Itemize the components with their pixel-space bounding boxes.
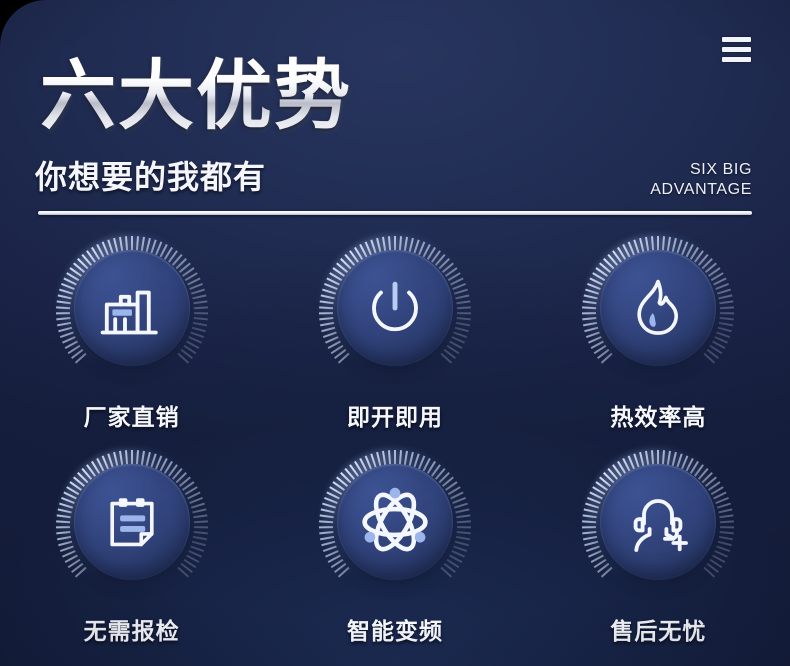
- feature-item-atom[interactable]: 智能变频: [263, 446, 526, 646]
- english-caption: SIX BIG ADVANTAGE: [650, 160, 752, 200]
- feature-label: 厂家直销: [84, 398, 180, 432]
- hamburger-bar-1: [722, 37, 751, 42]
- dial-clipboard: [52, 446, 212, 598]
- factory-icon: [97, 273, 167, 343]
- disc-factory: [74, 250, 190, 366]
- dial-atom: [315, 446, 475, 598]
- feature-item-power[interactable]: 即开即用: [263, 232, 526, 432]
- disc-power: [337, 250, 453, 366]
- disc-flame: [600, 250, 716, 366]
- dial-support: [578, 446, 738, 598]
- dial-flame: [578, 232, 738, 384]
- dial-power: [315, 232, 475, 384]
- feature-item-flame[interactable]: 热效率高: [527, 232, 790, 432]
- feature-item-support[interactable]: 售后无忧: [527, 446, 790, 646]
- page-subtitle: 你想要的我都有: [35, 152, 266, 198]
- hamburger-bar-3: [722, 57, 751, 62]
- feature-grid: 厂家直销 即开即用: [0, 232, 790, 646]
- headset-support-icon: [623, 487, 693, 557]
- hamburger-bar-2: [722, 47, 751, 52]
- feature-item-clipboard[interactable]: 无需报检: [0, 446, 263, 646]
- power-icon: [360, 273, 430, 343]
- page-title: 六大优势: [40, 54, 352, 139]
- atom-icon: [357, 484, 433, 560]
- feature-label: 无需报检: [84, 612, 180, 646]
- feature-label: 热效率高: [610, 398, 706, 432]
- feature-label: 智能变频: [347, 612, 443, 646]
- disc-support: [600, 464, 716, 580]
- feature-label: 售后无忧: [610, 612, 706, 646]
- feature-item-factory[interactable]: 厂家直销: [0, 232, 263, 432]
- clipboard-icon: [99, 487, 165, 557]
- advantage-poster: 六大优势 你想要的我都有 SIX BIG ADVANTAGE: [0, 0, 790, 666]
- feature-label: 即开即用: [347, 398, 443, 432]
- flame-icon: [625, 275, 691, 341]
- hamburger-menu-icon[interactable]: [722, 37, 751, 62]
- disc-clipboard: [74, 464, 190, 580]
- disc-atom: [337, 464, 453, 580]
- dial-factory: [52, 232, 212, 384]
- header-divider: [38, 211, 752, 215]
- english-caption-line1: SIX BIG: [650, 160, 752, 180]
- english-caption-line2: ADVANTAGE: [650, 180, 752, 200]
